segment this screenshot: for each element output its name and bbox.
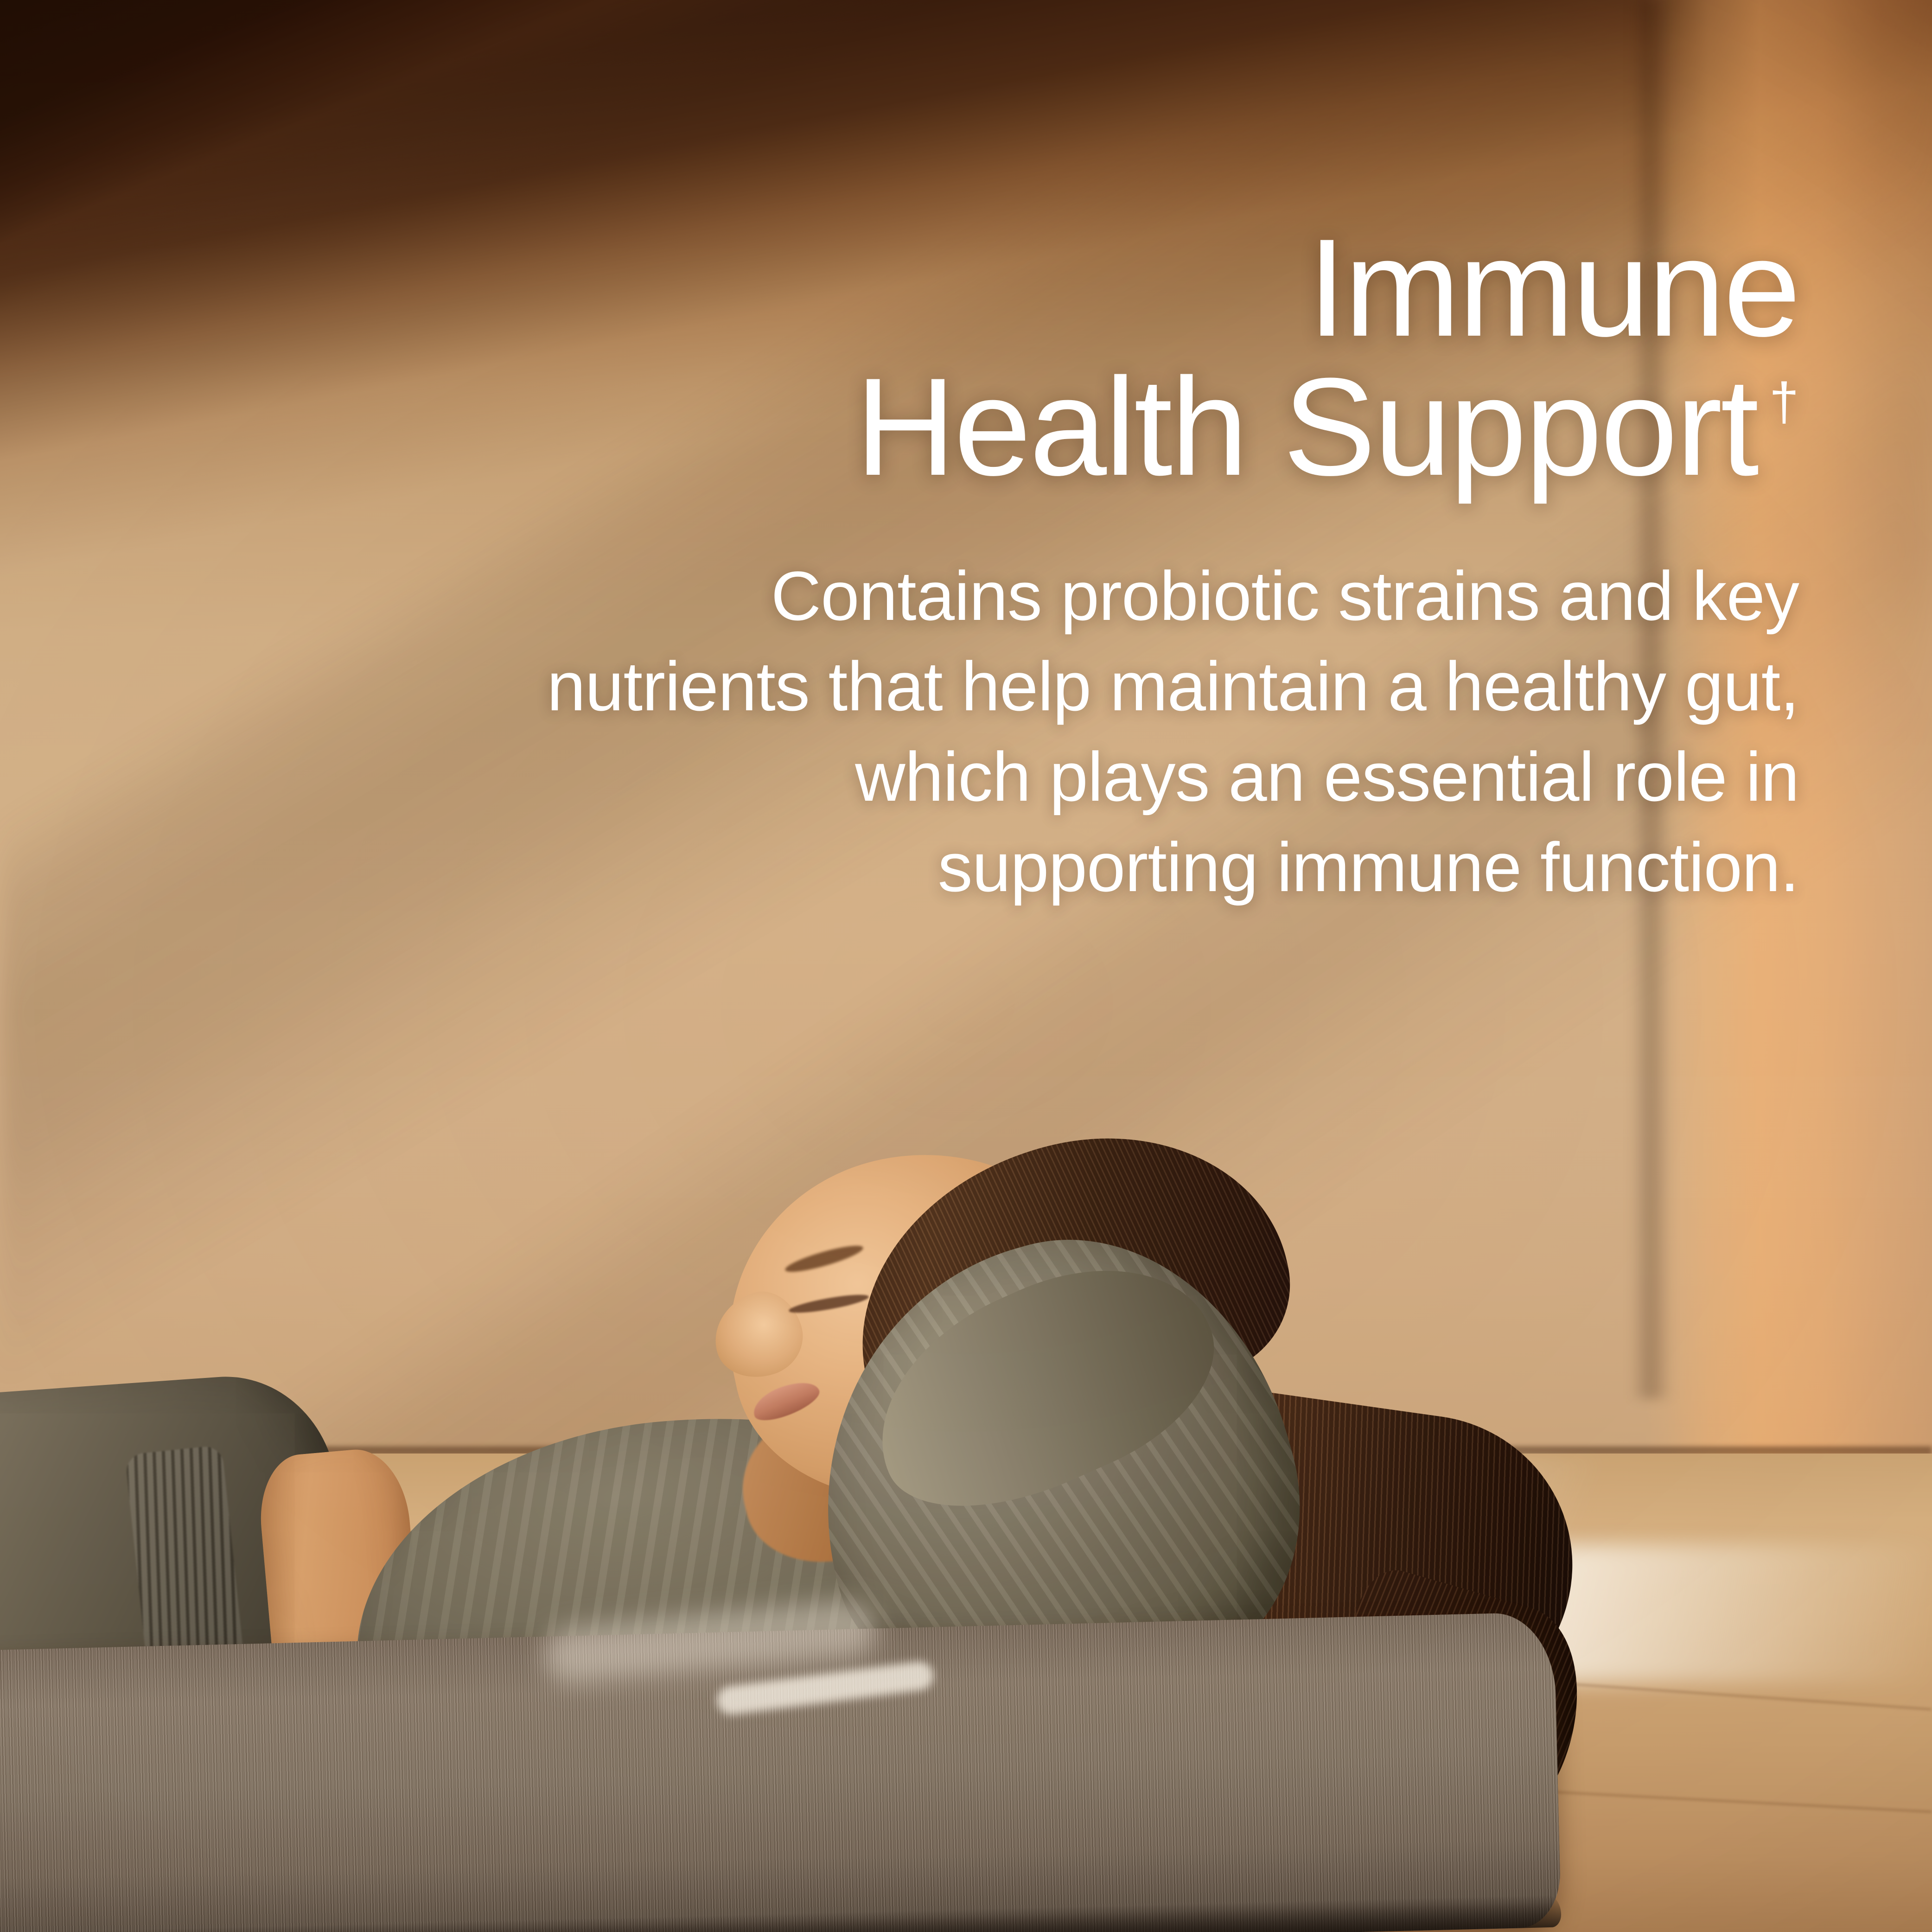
- subcopy-line-3: which plays an essential role in: [0, 732, 1799, 822]
- headline-line-2: Health Support†: [0, 357, 1799, 496]
- marketing-copy-block: Immune Health Support† Contains probioti…: [0, 218, 1799, 912]
- subcopy-line-2: nutrients that help maintain a healthy g…: [0, 641, 1799, 732]
- yoga-mat: [0, 1612, 1562, 1932]
- subcopy-line-1: Contains probiotic strains and key: [0, 551, 1799, 641]
- immune-health-support-promo-card: Immune Health Support† Contains probioti…: [0, 0, 1932, 1932]
- headline-line-1: Immune: [0, 218, 1799, 357]
- page-title: Immune Health Support†: [0, 218, 1799, 496]
- dagger-symbol: †: [1769, 372, 1799, 432]
- subcopy-line-4: supporting immune function.: [0, 822, 1799, 912]
- subcopy-paragraph: Contains probiotic strains and key nutri…: [0, 551, 1799, 912]
- headline-line-2-text: Health Support: [855, 349, 1757, 504]
